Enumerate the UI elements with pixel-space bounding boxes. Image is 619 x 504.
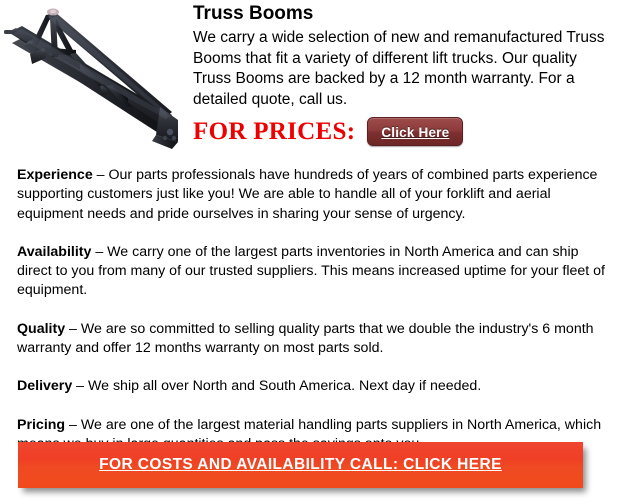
click-here-button[interactable]: Click Here — [367, 117, 463, 146]
feature-label-availability: Availability — [17, 244, 91, 260]
product-header: Truss Booms We carry a wide selection of… — [0, 0, 619, 162]
product-image-truss-boom — [0, 2, 190, 160]
feature-list: Experience – Our parts professionals hav… — [17, 166, 607, 454]
page-title: Truss Booms — [193, 2, 613, 26]
cta-call-button[interactable]: FOR COSTS AND AVAILABILITY CALL: CLICK H… — [18, 442, 583, 488]
feature-text-quality: We are so committed to selling quality p… — [17, 321, 594, 356]
feature-paragraph-experience: Experience – Our parts professionals hav… — [17, 166, 607, 224]
feature-label-experience: Experience — [17, 167, 93, 183]
feature-dash-availability: – — [91, 244, 107, 260]
feature-label-pricing: Pricing — [17, 417, 65, 433]
for-prices-row: FOR PRICES: Click Here — [193, 117, 613, 146]
feature-dash-delivery: – — [72, 378, 88, 394]
feature-text-delivery: We ship all over North and South America… — [88, 378, 481, 394]
product-description: We carry a wide selection of new and rem… — [193, 28, 605, 110]
feature-paragraph-quality: Quality – We are so committed to selling… — [17, 320, 607, 359]
feature-paragraph-delivery: Delivery – We ship all over North and So… — [17, 377, 607, 396]
feature-dash-quality: – — [65, 321, 81, 337]
truss-boom-illustration — [0, 2, 190, 160]
feature-label-delivery: Delivery — [17, 378, 72, 394]
feature-label-quality: Quality — [17, 321, 65, 337]
feature-dash-pricing: – — [65, 417, 81, 433]
product-copy: Truss Booms We carry a wide selection of… — [193, 2, 613, 146]
feature-dash-experience: – — [93, 167, 109, 183]
for-prices-label: FOR PRICES: — [193, 118, 355, 146]
feature-paragraph-availability: Availability – We carry one of the large… — [17, 243, 607, 301]
cta-banner-wrapper: FOR COSTS AND AVAILABILITY CALL: CLICK H… — [18, 442, 583, 488]
